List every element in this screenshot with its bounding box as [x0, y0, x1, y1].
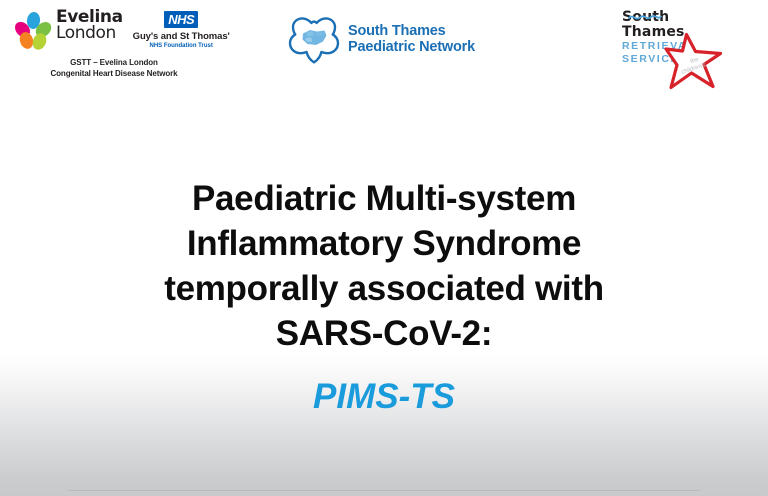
red-star-icon: the children's	[664, 32, 724, 90]
logo-bar: Evelina London NHS Guy's and St Thomas' …	[0, 0, 768, 100]
evelina-wordmark-line2: London	[56, 26, 123, 42]
stpn-wordmark-line2: Paediatric Network	[348, 40, 475, 56]
stpn-wordmark-line1: South Thames	[348, 24, 475, 40]
south-thames-paediatric-network-logo: South Thames Paediatric Network	[286, 14, 475, 66]
gstt-network-caption: GSTT – Evelina London Congenital Heart D…	[16, 57, 212, 79]
strs-wordmark-south: South	[622, 10, 695, 24]
evelina-flower-icon	[16, 13, 50, 49]
title-line-1: Paediatric Multi-system	[0, 176, 768, 221]
cradling-hands-heart-icon	[286, 14, 342, 66]
evelina-wordmark: Evelina London	[56, 10, 123, 41]
video-progress-hairline[interactable]	[68, 490, 700, 491]
evelina-logo-row: Evelina London NHS Guy's and St Thomas' …	[16, 10, 222, 49]
south-thames-paediatric-network-wordmark: South Thames Paediatric Network	[348, 24, 475, 55]
presentation-slide: Evelina London NHS Guy's and St Thomas' …	[0, 0, 768, 496]
south-thames-retrieval-service-logo: South Thames RETRIEVAL SERVICE the child…	[622, 8, 742, 74]
nhs-trust-name: Guy's and St Thomas'	[133, 31, 230, 42]
title-line-4: SARS-CoV-2:	[0, 311, 768, 356]
nhs-trust-subtitle: NHS Foundation Trust	[133, 43, 230, 49]
evelina-gstt-logo-group: Evelina London NHS Guy's and St Thomas' …	[16, 10, 222, 79]
gstt-network-caption-line1: GSTT – Evelina London	[16, 57, 212, 68]
slide-subtitle: PIMS-TS	[0, 376, 768, 418]
nhs-mark: NHS	[164, 11, 198, 28]
slide-title-block: Paediatric Multi-system Inflammatory Syn…	[0, 176, 768, 418]
title-line-2: Inflammatory Syndrome	[0, 221, 768, 266]
gstt-network-caption-line2: Congenital Heart Disease Network	[16, 68, 212, 79]
title-line-3: temporally associated with	[0, 266, 768, 311]
nhs-trust-logo: NHS Guy's and St Thomas' NHS Foundation …	[133, 11, 230, 49]
